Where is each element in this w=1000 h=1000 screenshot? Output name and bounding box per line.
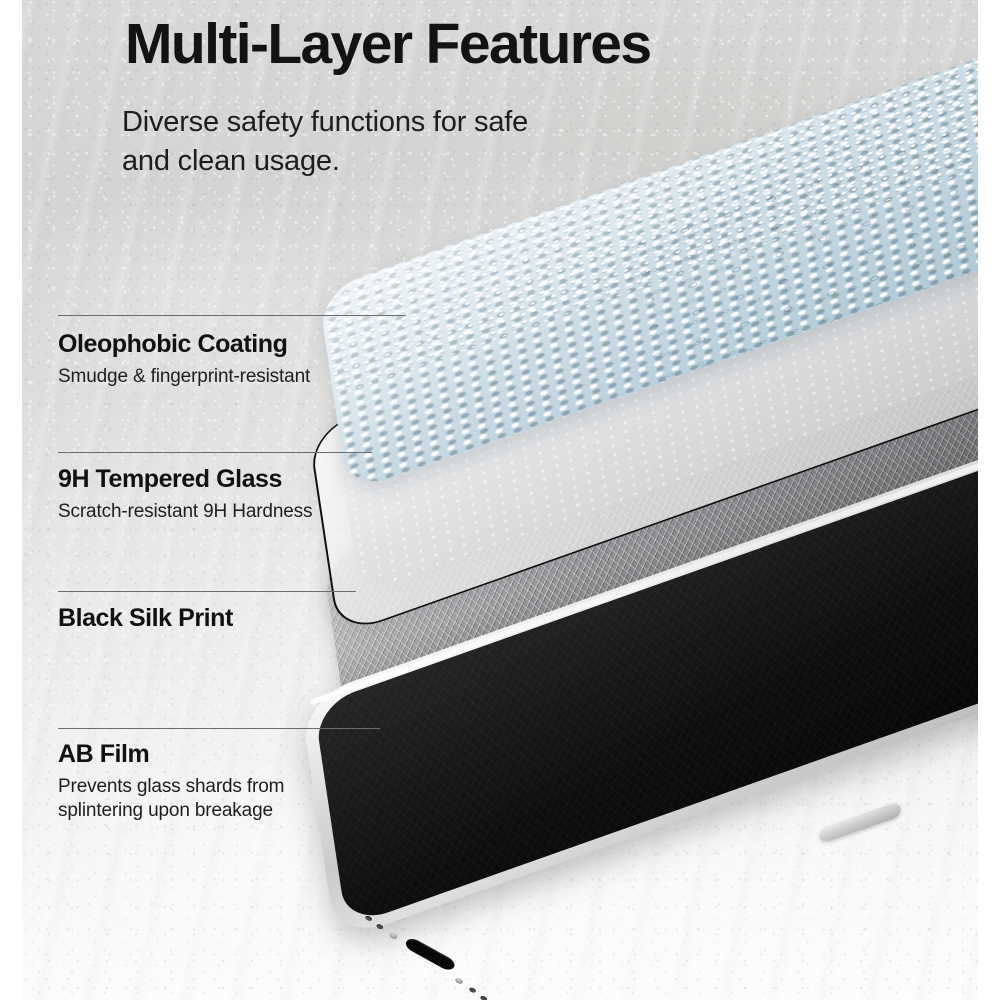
feature-callout-ab-film: AB Film Prevents glass shards from splin… (58, 740, 398, 824)
frame-screw (454, 977, 464, 985)
callout-rule (58, 452, 372, 453)
page-margin-left (0, 0, 22, 1000)
callout-rule (58, 315, 406, 316)
feature-title: 9H Tempered Glass (58, 465, 398, 495)
feature-subtitle: Prevents glass shards from splintering u… (58, 775, 398, 824)
page-margin-right (978, 0, 1000, 1000)
feature-title: AB Film (58, 740, 398, 770)
feature-callout-black-silk-print: Black Silk Print (58, 604, 398, 639)
speaker-grille (479, 995, 488, 1000)
feature-callout-tempered-glass: 9H Tempered Glass Scratch-resistant 9H H… (58, 465, 398, 524)
usb-c-port (403, 936, 457, 972)
callout-rule (58, 591, 356, 592)
feature-subtitle: Scratch-resistant 9H Hardness (58, 500, 398, 525)
page-title: Multi-Layer Features (125, 14, 885, 76)
feature-title: Black Silk Print (58, 604, 398, 634)
feature-subtitle: Smudge & fingerprint-resistant (58, 365, 398, 390)
frame-screw (388, 932, 398, 940)
callout-rule (58, 728, 380, 729)
side-button (818, 800, 902, 844)
feature-callout-oleophobic-coating: Oleophobic Coating Smudge & fingerprint-… (58, 330, 398, 389)
speaker-grille (364, 915, 373, 922)
feature-title: Oleophobic Coating (58, 330, 398, 360)
page-subtitle: Diverse safety functions for safe and cl… (122, 103, 662, 182)
speaker-grille (468, 987, 477, 994)
infographic-canvas: Multi-Layer Features Diverse safety func… (0, 0, 1000, 1000)
speaker-grille (375, 923, 384, 930)
